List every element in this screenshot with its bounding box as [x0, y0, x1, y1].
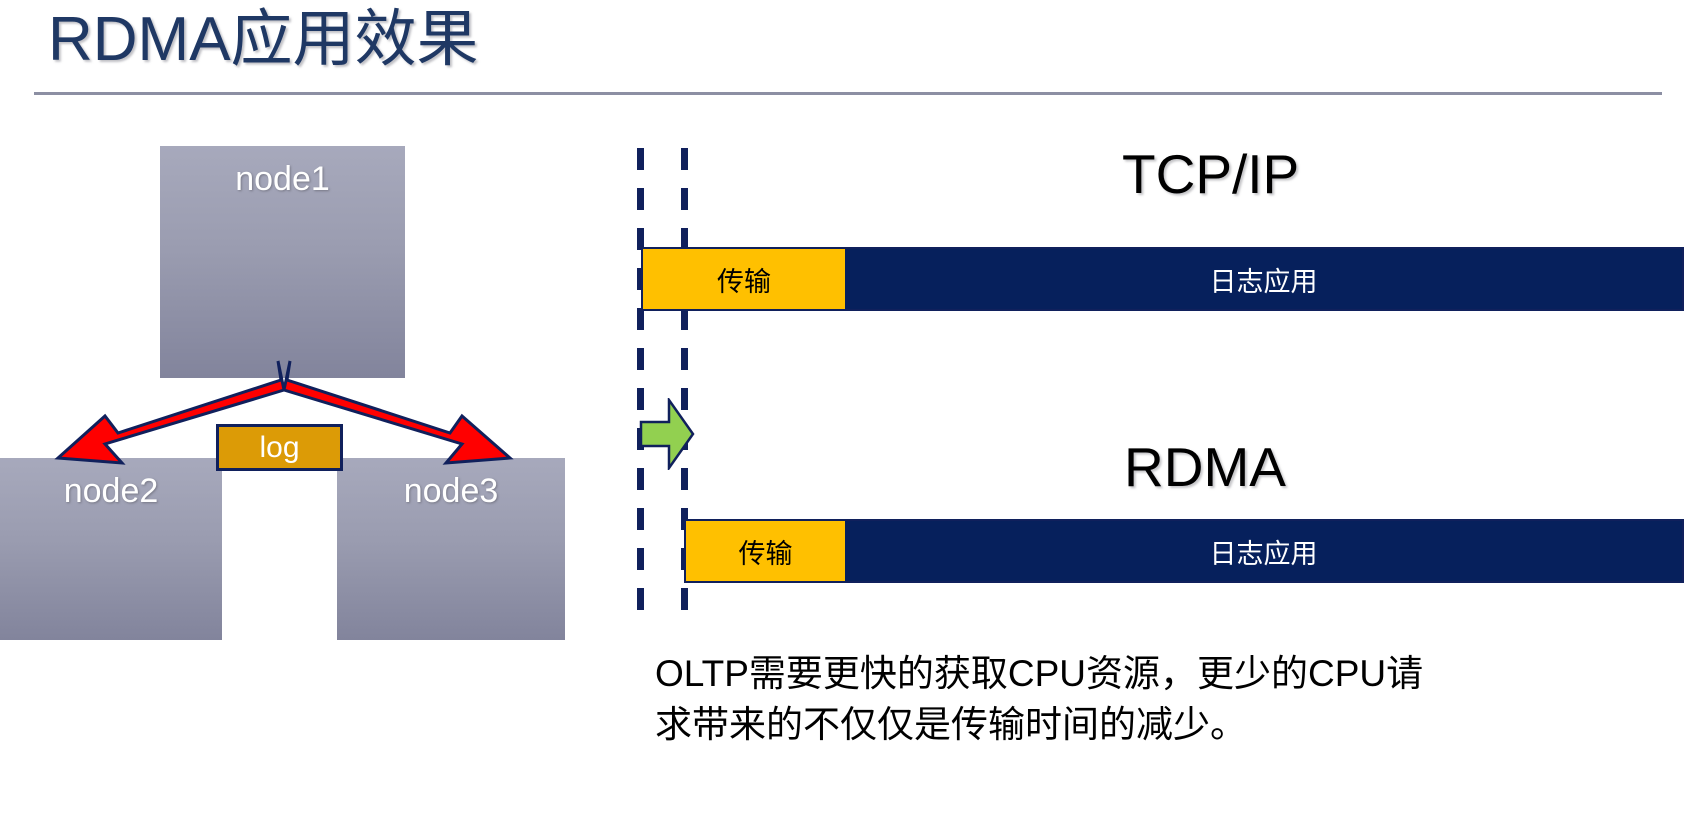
protocol-label-rdma: RDMA	[1124, 435, 1286, 499]
bar-segment-transfer-rdma-label: 传输	[739, 532, 793, 571]
time-reference-line-1	[637, 148, 644, 626]
bar-segment-application-rdma: 日志应用	[845, 519, 1684, 583]
bar-segment-application-tcpip-label: 日志应用	[1210, 260, 1318, 299]
caption-line-1: OLTP需要更快的获取CPU资源，更少的CPU请	[655, 648, 1665, 699]
protocol-label-tcpip: TCP/IP	[1122, 142, 1299, 206]
bar-row-rdma: 传输 日志应用	[684, 519, 1684, 583]
improvement-green-arrow-icon	[639, 398, 695, 470]
bar-segment-application-tcpip: 日志应用	[845, 247, 1684, 311]
bar-segment-transfer-rdma: 传输	[684, 519, 845, 583]
bar-row-tcpip: 传输 日志应用	[641, 247, 1684, 311]
caption-text: OLTP需要更快的获取CPU资源，更少的CPU请 求带来的不仅仅是传输时间的减少…	[655, 648, 1665, 750]
bar-segment-application-rdma-label: 日志应用	[1210, 532, 1318, 571]
bar-segment-transfer-tcpip-label: 传输	[717, 260, 771, 299]
bar-segment-transfer-tcpip: 传输	[641, 247, 845, 311]
caption-line-2: 求带来的不仅仅是传输时间的减少。	[655, 699, 1665, 750]
